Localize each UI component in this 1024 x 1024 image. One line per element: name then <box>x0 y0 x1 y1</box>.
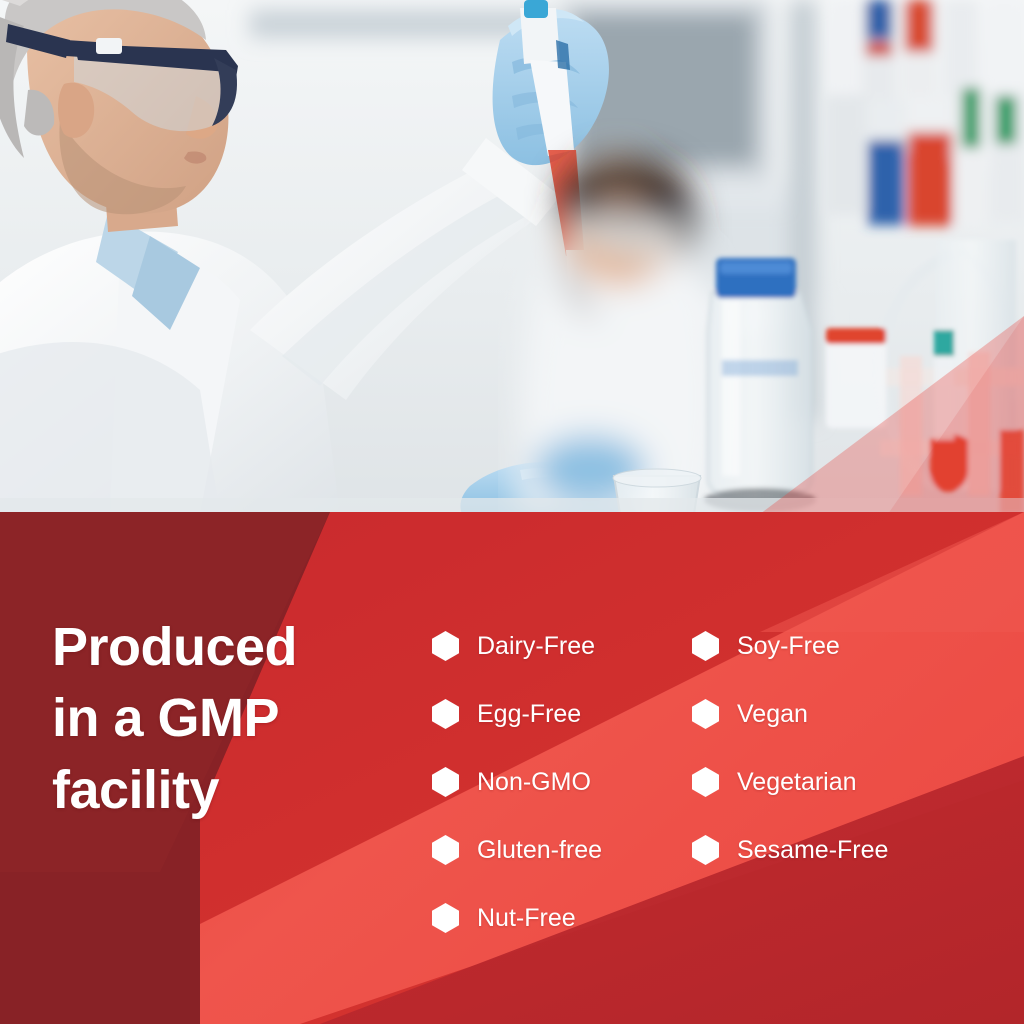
claim-label: Vegan <box>737 702 808 727</box>
lab-photo-illustration <box>0 0 1024 514</box>
claim-label: Non-GMO <box>477 770 591 795</box>
list-item: Gluten-free <box>432 816 692 884</box>
claim-label: Gluten-free <box>477 838 602 863</box>
lab-photo <box>0 0 1024 514</box>
list-item: Vegan <box>692 680 952 748</box>
claim-label: Vegetarian <box>737 770 857 795</box>
hexagon-bullet-icon <box>692 835 719 865</box>
list-item: Soy-Free <box>692 612 952 680</box>
hexagon-bullet-icon <box>692 699 719 729</box>
claims-column-right: Soy-Free Vegan Vegetarian Sesame-Free <box>692 612 952 952</box>
hexagon-bullet-icon <box>432 699 459 729</box>
claims-column-left: Dairy-Free Egg-Free Non-GMO Gluten-free <box>432 612 692 952</box>
shelf-products <box>825 0 1024 228</box>
claim-label: Soy-Free <box>737 634 840 659</box>
page-title: Produced in a GMP facility <box>52 612 432 826</box>
list-item: Vegetarian <box>692 748 952 816</box>
list-item: Dairy-Free <box>432 612 692 680</box>
hexagon-bullet-icon <box>432 903 459 933</box>
claims-list: Dairy-Free Egg-Free Non-GMO Gluten-free <box>432 612 1002 952</box>
claim-label: Egg-Free <box>477 702 581 727</box>
promo-graphic: Produced in a GMP facility Dairy-Free Eg… <box>0 0 1024 1024</box>
list-item: Nut-Free <box>432 884 692 952</box>
claim-label: Sesame-Free <box>737 838 888 863</box>
claim-label: Dairy-Free <box>477 634 595 659</box>
hexagon-bullet-icon <box>432 631 459 661</box>
headline-line-1: Produced <box>52 612 432 683</box>
claim-label: Nut-Free <box>477 906 576 931</box>
claims-panel: Produced in a GMP facility Dairy-Free Eg… <box>0 512 1024 1024</box>
headline-line-2: in a GMP <box>52 683 432 754</box>
hexagon-bullet-icon <box>692 767 719 797</box>
reagent-bottle <box>704 258 816 512</box>
list-item: Non-GMO <box>432 748 692 816</box>
hexagon-bullet-icon <box>432 767 459 797</box>
list-item: Sesame-Free <box>692 816 952 884</box>
hexagon-bullet-icon <box>692 631 719 661</box>
headline-line-3: facility <box>52 755 432 826</box>
panel-content: Produced in a GMP facility Dairy-Free Eg… <box>0 512 1024 1024</box>
hexagon-bullet-icon <box>432 835 459 865</box>
list-item: Egg-Free <box>432 680 692 748</box>
